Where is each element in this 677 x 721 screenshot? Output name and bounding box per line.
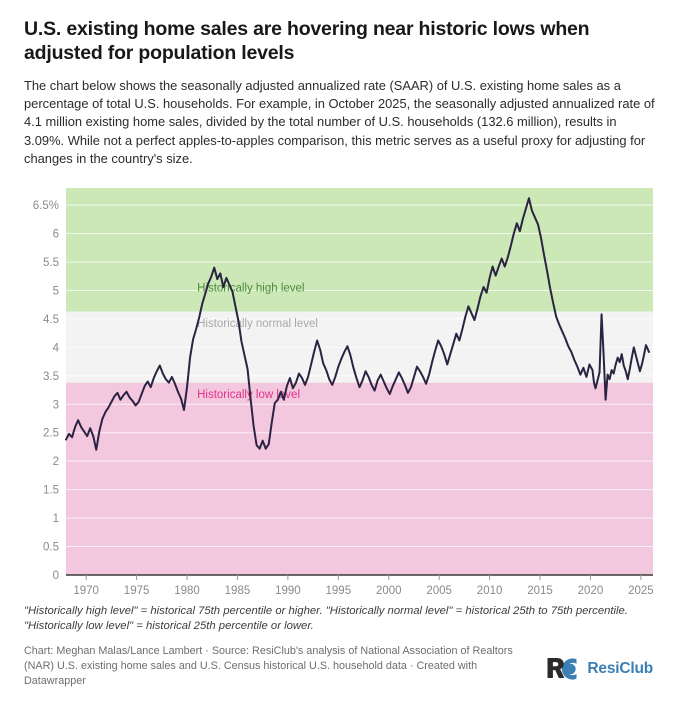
chart-container: 00.511.522.533.544.555.566.5%19701975198… — [24, 180, 653, 595]
y-tick-label: 4.5 — [43, 314, 59, 326]
x-tick-label: 1990 — [275, 585, 301, 595]
line-chart: 00.511.522.533.544.555.566.5%19701975198… — [24, 180, 653, 595]
band-0 — [66, 188, 653, 311]
chart-page: U.S. existing home sales are hovering ne… — [0, 0, 677, 721]
y-tick-label: 5.5 — [43, 257, 59, 269]
x-tick-label: 1975 — [124, 585, 150, 595]
y-tick-label: 0.5 — [43, 542, 59, 554]
x-tick-label: 2015 — [527, 585, 553, 595]
y-tick-label: 0 — [53, 570, 59, 582]
x-tick-label: 1980 — [174, 585, 200, 595]
x-tick-label: 1970 — [73, 585, 99, 595]
x-tick-label: 1985 — [225, 585, 251, 595]
y-tick-label: 1 — [53, 513, 59, 525]
y-tick-label: 4 — [53, 342, 60, 354]
x-tick-label: 2020 — [578, 585, 604, 595]
y-tick-label: 6 — [53, 229, 59, 241]
chart-subtitle: The chart below shows the seasonally adj… — [24, 66, 660, 169]
x-tick-label: 2005 — [426, 585, 452, 595]
y-tick-label: 5 — [53, 286, 59, 298]
x-tick-label: 2000 — [376, 585, 402, 595]
y-tick-label: 3.5 — [43, 371, 59, 383]
y-tick-label: 2.5 — [43, 428, 59, 440]
credit-row: Chart: Meghan Malas/Lance Lambert · Sour… — [24, 635, 653, 689]
x-tick-label: 2010 — [477, 585, 503, 595]
x-tick-label: 2025 — [628, 585, 653, 595]
chart-footnote: "Historically high level" = historical 7… — [24, 595, 646, 635]
band-annotation-1: Historically normal level — [197, 318, 318, 330]
y-tick-label: 3 — [53, 399, 59, 411]
page-title: U.S. existing home sales are hovering ne… — [24, 0, 664, 66]
x-tick-label: 1995 — [326, 585, 352, 595]
resiclub-mark-icon — [546, 656, 580, 682]
band-annotation-0: Historically high level — [197, 283, 304, 295]
y-tick-label: 1.5 — [43, 485, 59, 497]
y-tick-label: 6.5% — [33, 200, 59, 212]
y-tick-label: 2 — [53, 456, 59, 468]
resiclub-logo-text: ResiClub — [587, 660, 653, 678]
resiclub-logo: ResiClub — [546, 644, 653, 682]
chart-credit: Chart: Meghan Malas/Lance Lambert · Sour… — [24, 644, 518, 689]
